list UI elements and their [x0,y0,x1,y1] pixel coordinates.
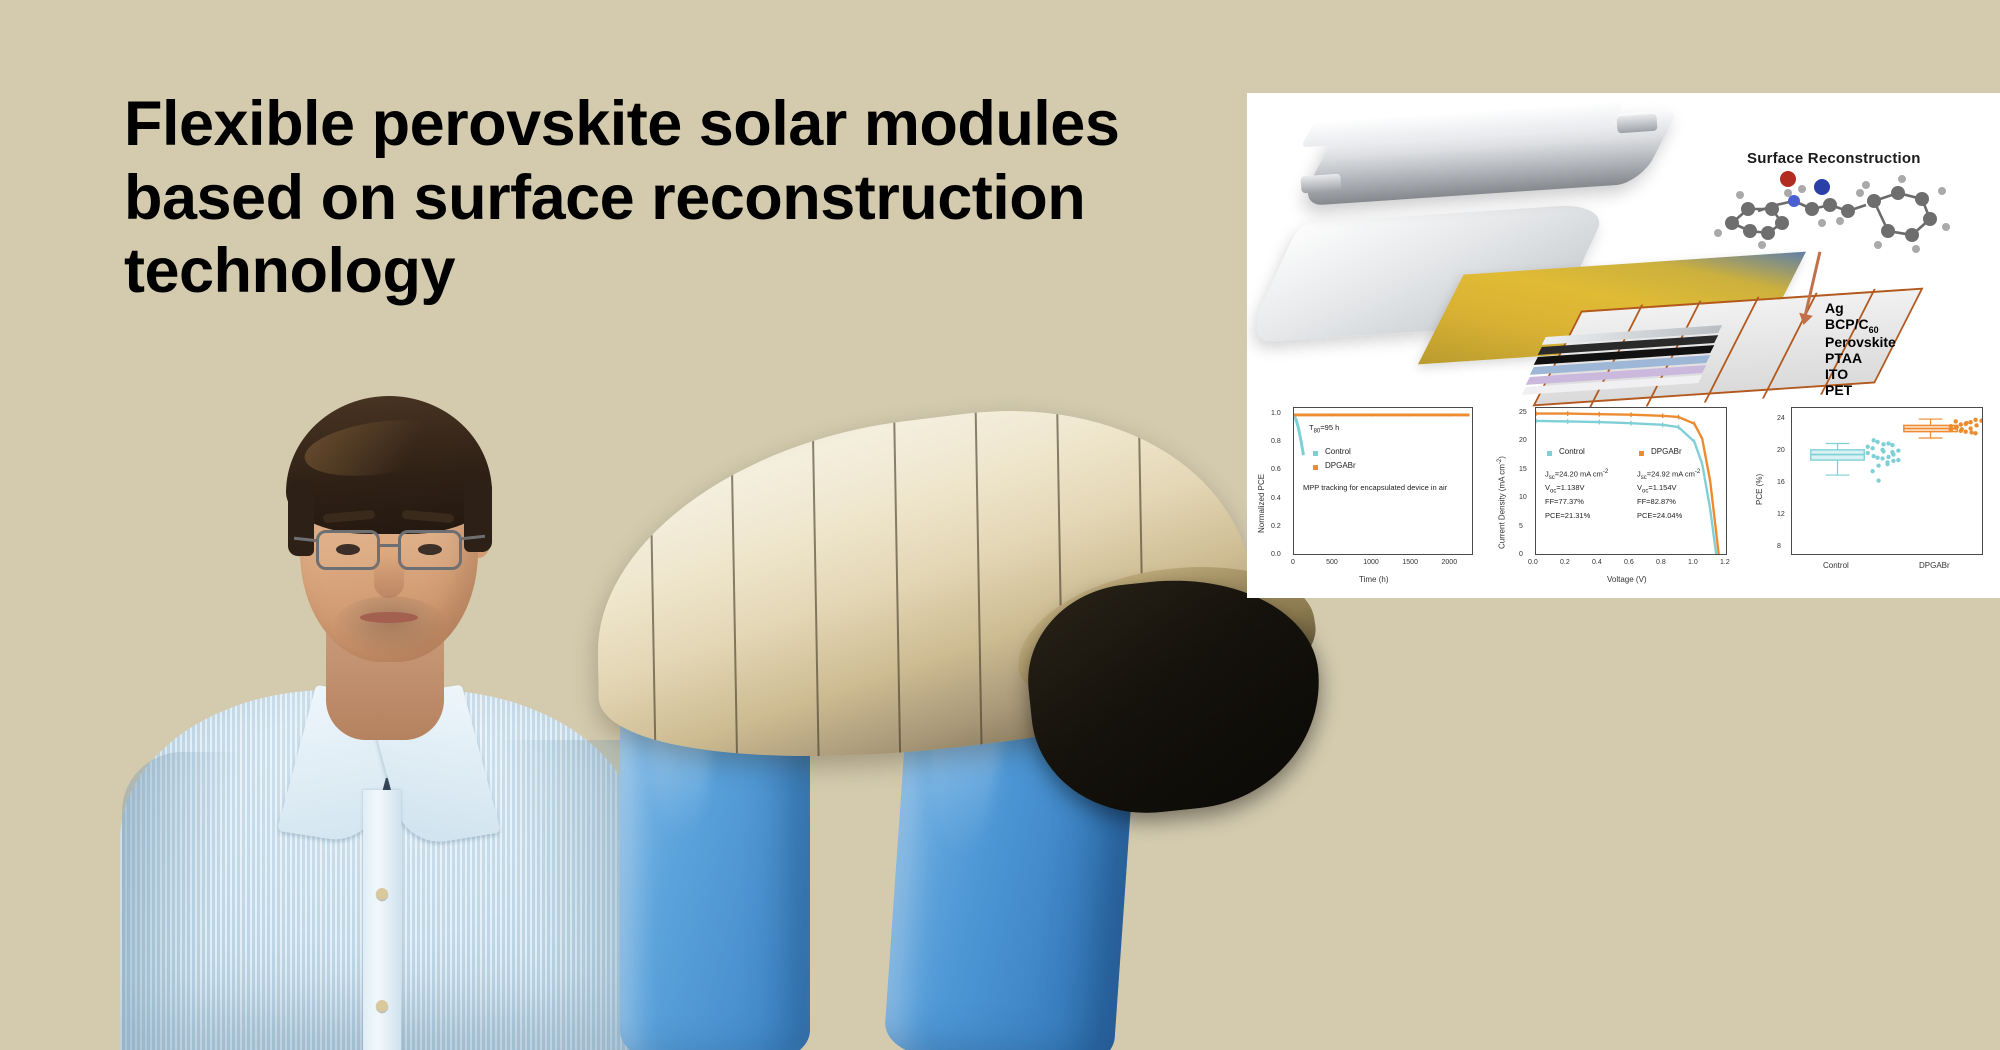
dpgabr-jsc: Jsc=24.92 mA cm-2 [1637,469,1700,481]
jv-legend-label-dpgabr: DPGABr [1651,447,1682,456]
datapoint [1300,441,1303,444]
figure-plots: Normalized PCE Time (h) 0.00.20.40.60.81… [1247,393,2000,598]
scatter-point [1891,459,1895,463]
legend-marker-control [1313,451,1318,456]
axis-tick-label: 20 [1777,447,1785,454]
scatter-point [1973,431,1977,435]
sideburn-right [464,478,492,552]
axis-tick-label: 0.2 [1560,559,1570,566]
legend-label-control: Control [1325,447,1351,456]
scatter-point [1870,469,1874,473]
scatter-point [1963,430,1967,434]
scatter-point [1949,428,1953,432]
scatter-point [1886,441,1890,445]
layer-label-ptaa: PTAA [1825,351,1896,367]
dpgabr-voc: Voc=1.154V [1637,483,1677,495]
plot-stability-xlabel: Time (h) [1359,575,1388,584]
axis-tick-label: 10 [1519,494,1527,501]
scatter-point [1960,427,1964,431]
datapoint [1467,414,1470,417]
axis-tick-label: 1.2 [1720,559,1730,566]
scatter-point [1875,456,1879,460]
surface-reconstruction-label: Surface Reconstruction [1747,150,1921,167]
legend-marker-dpgabr [1313,465,1318,470]
scatter-point [1875,440,1879,444]
nose [374,556,404,598]
scatter-point [1964,421,1968,425]
shirt-shadow-left [122,752,242,1050]
axis-tick-label: 12 [1777,511,1785,518]
title-line-1: Flexible perovskite solar modules [124,88,1234,162]
scatter-point [1959,422,1963,426]
stubble [332,596,448,658]
axis-tick-label: 0 [1519,551,1523,558]
axis-tick-label: 500 [1326,559,1338,566]
control-ff: FF=77.37% [1545,497,1584,506]
plot-jv: Current Density (mA cm-2) Voltage (V) 05… [1489,393,1747,598]
axis-tick-label: 15 [1519,466,1527,473]
layer-label-bcp: BCP/C60 [1825,317,1896,335]
scatter-point [1890,450,1894,454]
device-schematic: Surface Reconstruction [1247,93,2000,393]
dpgabr-molecule-icon [1702,171,1972,256]
glasses-bridge [379,544,399,547]
axis-tick-label: 0.6 [1271,466,1281,473]
scatter-point [1890,443,1894,447]
axis-tick-label: 0.2 [1271,523,1281,530]
layer-label-ito: ITO [1825,367,1896,383]
scatter-point [1979,418,1982,422]
axis-tick-label: 8 [1777,543,1781,550]
scatter-point [1896,448,1900,452]
scatter-point [1866,451,1870,455]
scatter-point [1954,419,1958,423]
shirt-button-upper [376,888,388,900]
plot-stability-t80-annotation: T80=95 h [1309,423,1339,435]
datapoint [1295,419,1298,422]
control-pce: PCE=21.31% [1545,511,1590,520]
axis-tick-label: 0.4 [1592,559,1602,566]
axis-tick-label: 0.0 [1528,559,1538,566]
scatter-point [1876,463,1880,467]
plot-stability-note: MPP tracking for encapsulated device in … [1303,483,1447,492]
module-scribe-line [812,412,821,791]
jv-legend-label-control: Control [1559,447,1585,456]
datapoint [1409,414,1412,417]
datapoint [1447,414,1450,417]
axis-tick-label: 1.0 [1688,559,1698,566]
dpgabr-pce: PCE=24.04% [1637,511,1682,520]
module-scribe-line [730,422,739,791]
scatter-point [1969,430,1973,434]
schematic-cell-line [1762,293,1818,399]
scatter-point [1870,446,1874,450]
plot-jv-ylabel: Current Density (mA cm-2) [1497,456,1507,549]
page-title: Flexible perovskite solar modules based … [124,88,1234,309]
figure-panel: Surface Reconstruction [1247,93,2000,598]
scatter-point [1885,462,1889,466]
plot-pce-category-dpgabr: DPGABr [1919,561,1950,570]
nozzle-right-icon [1616,114,1657,134]
scatter-point [1896,458,1900,462]
scatter-point [1880,456,1884,460]
scatter-point [1954,426,1958,430]
module-scribe-line [974,392,983,774]
plot-stability-ylabel: Normalized PCE [1257,474,1266,533]
scatter-point [1881,442,1885,446]
axis-tick-label: 24 [1777,415,1785,422]
datapoint [1331,414,1334,417]
axis-tick-label: 0 [1291,559,1295,566]
control-jsc: Jsc=24.20 mA cm-2 [1545,469,1608,481]
axis-tick-label: 0.0 [1271,551,1281,558]
scatter-point [1968,420,1972,424]
schematic-cell-line [1704,297,1760,403]
dpgabr-ff: FF=82.87% [1637,497,1676,506]
datapoint [1302,453,1305,456]
layer-stack-labels: Ag BCP/C60 Perovskite PTAA ITO PET [1825,301,1896,399]
axis-tick-label: 1.0 [1271,410,1281,417]
axis-tick-label: 25 [1519,409,1527,416]
plot-pce-axes [1791,407,1983,555]
module-scribe-line [649,432,658,791]
axis-tick-label: 0.8 [1271,438,1281,445]
axis-tick-label: 5 [1519,523,1523,530]
plot-stability: Normalized PCE Time (h) 0.00.20.40.60.81… [1247,393,1489,598]
poster-canvas: Flexible perovskite solar modules based … [0,0,2000,1050]
plot-pce-boxes [1792,408,1982,554]
plot-pce-category-control: Control [1823,561,1849,570]
layer-label-perovskite: Perovskite [1825,335,1896,351]
sideburn-left [288,480,314,556]
plot-pce-ylabel: PCE (%) [1755,474,1764,505]
glasses-lens-right [398,530,462,570]
plot-jv-xlabel: Voltage (V) [1607,575,1647,584]
jv-legend-marker-dpgabr [1639,451,1644,456]
axis-tick-label: 1000 [1363,559,1379,566]
axis-tick-label: 1500 [1402,559,1418,566]
scatter-point [1949,424,1953,428]
shirt-button-lower [376,1000,388,1012]
title-line-3: technology [124,235,1234,309]
scatter-point [1866,445,1870,449]
scatter-point [1974,423,1978,427]
plot-jv-axes [1535,407,1727,555]
axis-tick-label: 20 [1519,437,1527,444]
scatter-point [1871,454,1875,458]
title-line-2: based on surface reconstruction [124,162,1234,236]
jv-legend-marker-control [1547,451,1552,456]
legend-label-dpgabr: DPGABr [1325,461,1356,470]
scatter-point [1871,438,1875,442]
scatter-point [1886,455,1890,459]
scatter-point [1880,448,1884,452]
mouth [360,612,418,623]
glasses-lens-left [316,530,380,570]
axis-tick-label: 0.8 [1656,559,1666,566]
scatter-point [1973,418,1977,422]
datapoint [1294,414,1295,417]
scatter-point [1876,478,1880,482]
axis-tick-label: 0.4 [1271,495,1281,502]
plot-pce-statistics: PCE (%) 812162024 Control DPGABr [1747,393,2000,598]
datapoint [1297,427,1300,430]
hair [286,396,492,534]
plot-jv-curves [1536,408,1726,554]
control-voc: Voc=1.138V [1545,483,1585,495]
nozzle-left-icon [1300,174,1341,194]
researcher-portrait [120,360,640,1050]
layer-label-ag: Ag [1825,301,1896,317]
axis-tick-label: 16 [1777,479,1785,486]
axis-tick-label: 2000 [1442,559,1458,566]
axis-tick-label: 0.6 [1624,559,1634,566]
scatter-point [1968,426,1972,430]
module-scribe-line [893,402,902,784]
module-photo [600,420,1300,1050]
datapoint [1370,414,1373,417]
